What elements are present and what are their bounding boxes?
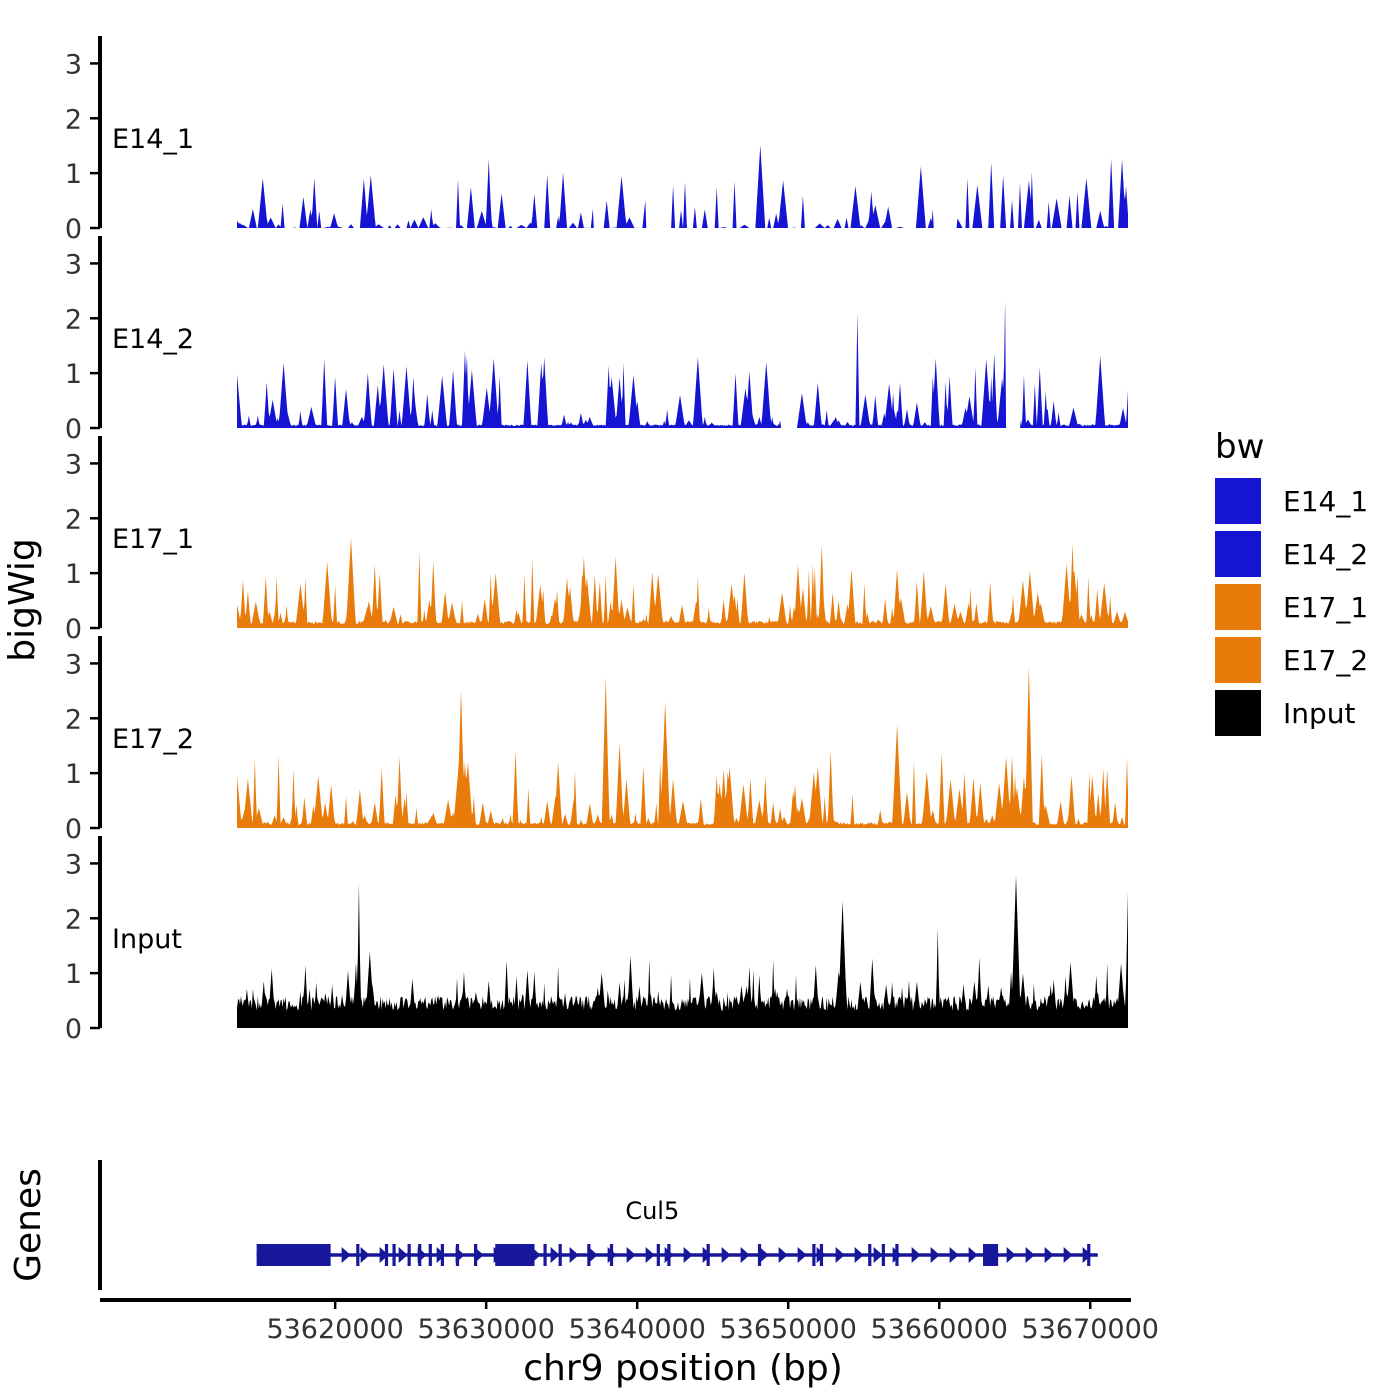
track-label-E17_2: E17_2 bbox=[112, 724, 194, 755]
x-tick-label: 53620000 bbox=[266, 1314, 403, 1345]
y-axis-title: bigWig bbox=[2, 538, 43, 661]
y-tick-label: 0 bbox=[65, 414, 82, 445]
legend-item-E14_2[interactable]: E14_2 bbox=[1215, 531, 1368, 577]
y-tick-label: 2 bbox=[65, 504, 82, 535]
legend-label-Input: Input bbox=[1283, 697, 1356, 730]
legend-label-E14_1: E14_1 bbox=[1283, 485, 1368, 518]
gene-minor-exon bbox=[408, 1244, 411, 1266]
gene-minor-exon bbox=[429, 1244, 432, 1266]
legend-item-E17_1[interactable]: E17_1 bbox=[1215, 584, 1368, 630]
track-label-Input: Input bbox=[112, 924, 182, 955]
y-tick-label: 3 bbox=[65, 49, 82, 80]
gene-minor-exon bbox=[543, 1244, 546, 1266]
y-tick-label: 3 bbox=[65, 449, 82, 480]
gene-name-label: Cul5 bbox=[625, 1197, 679, 1225]
legend-item-Input[interactable]: Input bbox=[1215, 690, 1356, 736]
legend-swatch-E17_1 bbox=[1215, 584, 1261, 630]
y-tick-label: 2 bbox=[65, 704, 82, 735]
legend-swatch-Input bbox=[1215, 690, 1261, 736]
track-label-E17_1: E17_1 bbox=[112, 524, 194, 555]
gene-minor-exon bbox=[812, 1244, 815, 1266]
x-tick-label: 53640000 bbox=[568, 1314, 705, 1345]
y-tick-label: 1 bbox=[65, 159, 82, 190]
legend-swatch-E17_2 bbox=[1215, 637, 1261, 683]
legend-label-E17_1: E17_1 bbox=[1283, 591, 1368, 624]
x-tick-label: 53630000 bbox=[417, 1314, 554, 1345]
y-tick-label: 2 bbox=[65, 304, 82, 335]
y-tick-label: 1 bbox=[65, 559, 82, 590]
x-axis-title: chr9 position (bp) bbox=[523, 1348, 843, 1389]
y-tick-label: 2 bbox=[65, 104, 82, 135]
x-tick-label: 53670000 bbox=[1022, 1314, 1159, 1345]
legend-item-E14_1[interactable]: E14_1 bbox=[1215, 478, 1368, 524]
y-tick-label: 3 bbox=[65, 849, 82, 880]
track-label-E14_2: E14_2 bbox=[112, 324, 194, 355]
genome-browser-figure: 0123E14_10123E14_20123E17_10123E17_20123… bbox=[0, 0, 1400, 1400]
figure-background bbox=[0, 0, 1400, 1400]
gene-minor-exon bbox=[868, 1244, 871, 1266]
y-tick-label: 0 bbox=[65, 1014, 82, 1045]
y-tick-label: 3 bbox=[65, 249, 82, 280]
y-tick-label: 2 bbox=[65, 904, 82, 935]
legend-item-E17_2[interactable]: E17_2 bbox=[1215, 637, 1368, 683]
gene-minor-exon bbox=[356, 1244, 359, 1266]
gene-exon bbox=[257, 1244, 331, 1266]
legend-label-E14_2: E14_2 bbox=[1283, 538, 1368, 571]
legend-title: bw bbox=[1215, 427, 1264, 467]
y-tick-label: 3 bbox=[65, 649, 82, 680]
genes-axis-title: Genes bbox=[8, 1168, 49, 1282]
y-tick-label: 0 bbox=[65, 814, 82, 845]
y-tick-label: 1 bbox=[65, 959, 82, 990]
y-tick-label: 0 bbox=[65, 214, 82, 245]
legend-label-E17_2: E17_2 bbox=[1283, 644, 1368, 677]
figure-root: 0123E14_10123E14_20123E17_10123E17_20123… bbox=[0, 0, 1400, 1400]
x-tick-label: 53650000 bbox=[719, 1314, 856, 1345]
track-label-E14_1: E14_1 bbox=[112, 124, 194, 155]
y-tick-label: 1 bbox=[65, 359, 82, 390]
gene-minor-exon bbox=[392, 1244, 395, 1266]
x-tick-label: 53660000 bbox=[871, 1314, 1008, 1345]
legend-swatch-E14_2 bbox=[1215, 531, 1261, 577]
y-tick-label: 1 bbox=[65, 759, 82, 790]
y-tick-label: 0 bbox=[65, 614, 82, 645]
legend-swatch-E14_1 bbox=[1215, 478, 1261, 524]
gene-minor-exon bbox=[657, 1244, 660, 1266]
